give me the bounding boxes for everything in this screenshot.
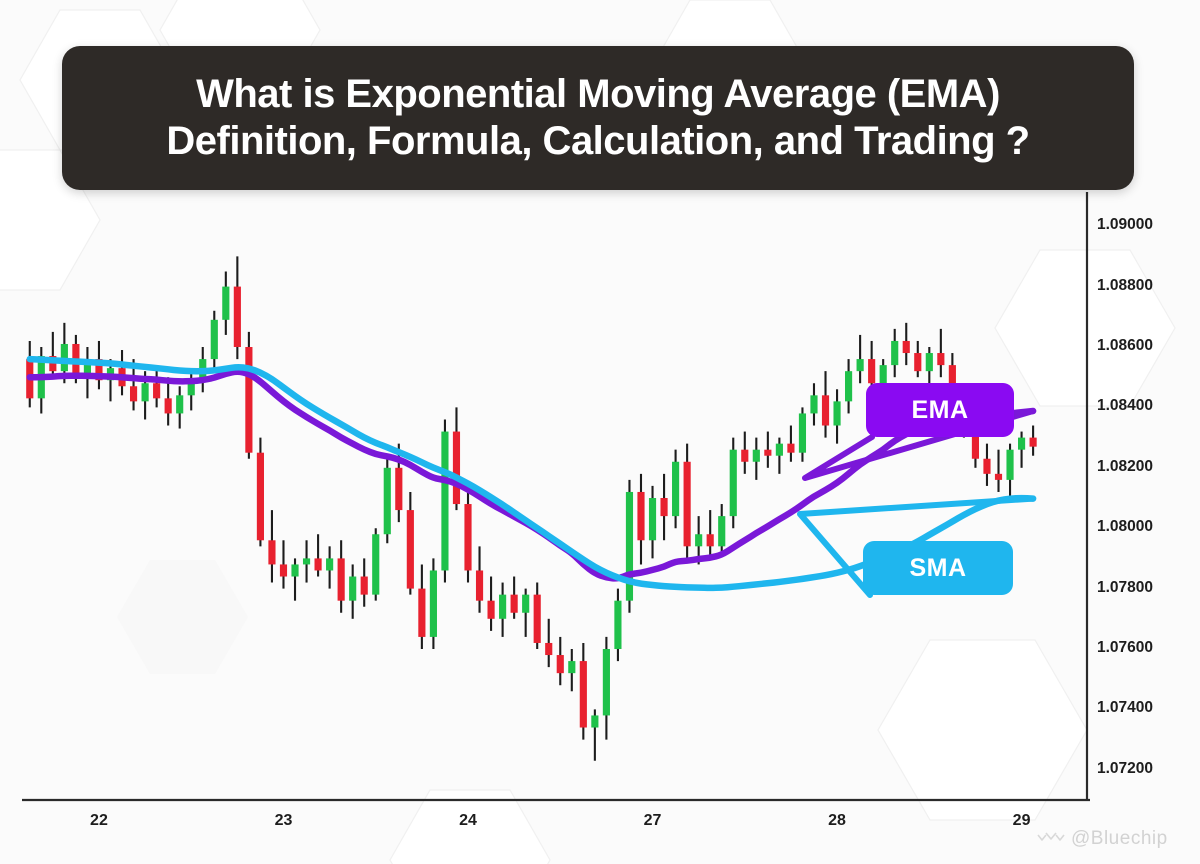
candle-body-bullish: [880, 365, 887, 383]
candle-body-bullish: [384, 468, 391, 534]
y-axis-tick-label: 1.09000: [1097, 216, 1153, 234]
legend-badge-sma[interactable]: SMA: [863, 541, 1013, 595]
candle-body-bullish: [349, 577, 356, 601]
x-axis-tick-label: 29: [1013, 812, 1031, 830]
candle-body-bullish: [810, 395, 817, 413]
candle-body-bullish: [695, 534, 702, 546]
candle-body-bearish: [903, 341, 910, 353]
candle-body-bullish: [522, 595, 529, 613]
candle-body-bullish: [1006, 450, 1013, 480]
candle-body-bearish: [637, 492, 644, 540]
candle-body-bullish: [303, 558, 310, 564]
x-axis-tick-label: 28: [828, 812, 846, 830]
candle-body-bearish: [868, 359, 875, 383]
y-axis-tick-label: 1.08200: [1097, 458, 1153, 476]
candle-body-bearish: [534, 595, 541, 643]
legend-label-sma: SMA: [909, 554, 966, 583]
candle-body-bullish: [211, 320, 218, 359]
candle-body-bullish: [430, 570, 437, 636]
candle-body-bullish: [730, 450, 737, 516]
candle-body-bullish: [857, 359, 864, 371]
candle-body-bearish: [684, 462, 691, 547]
candle-body-bearish: [787, 444, 794, 453]
candle-body-bullish: [649, 498, 656, 540]
candle-body-bearish: [822, 395, 829, 425]
candle-body-bearish: [315, 558, 322, 570]
candle-body-bullish: [176, 395, 183, 413]
candle-body-bullish: [142, 383, 149, 401]
candle-body-bearish: [764, 450, 771, 456]
candle-body-bearish: [338, 558, 345, 600]
candle-body-bearish: [580, 661, 587, 727]
candle-body-bullish: [776, 444, 783, 456]
candle-body-bearish: [741, 450, 748, 462]
candle-body-bullish: [568, 661, 575, 673]
candle-body-bullish: [614, 601, 621, 649]
candle-body-bearish: [153, 383, 160, 398]
chevron-logo-icon: [1036, 829, 1066, 849]
candle-body-bearish: [234, 287, 241, 347]
candle-body-bearish: [464, 504, 471, 570]
candle-body-bullish: [222, 287, 229, 320]
title-banner: What is Exponential Moving Average (EMA)…: [62, 46, 1134, 190]
candle-body-bearish: [1030, 438, 1037, 447]
candle-body-bullish: [833, 401, 840, 425]
legend-label-ema: EMA: [911, 396, 968, 425]
candle-body-bearish: [245, 347, 252, 453]
candle-body-bullish: [291, 564, 298, 576]
candle-body-bearish: [660, 498, 667, 516]
candle-body-bullish: [441, 432, 448, 571]
candle-body-bearish: [983, 459, 990, 474]
x-axis-tick-label: 23: [275, 812, 293, 830]
candle-body-bearish: [707, 534, 714, 546]
candle-body-bullish: [718, 516, 725, 546]
candle-body-bearish: [257, 453, 264, 541]
candle-body-bearish: [130, 386, 137, 401]
y-axis-tick-label: 1.08000: [1097, 518, 1153, 536]
candle-body-bullish: [372, 534, 379, 594]
candle-body-bullish: [591, 715, 598, 727]
y-axis-tick-label: 1.07600: [1097, 639, 1153, 657]
title-line-1: What is Exponential Moving Average (EMA): [196, 71, 1000, 118]
candle-body-bearish: [557, 655, 564, 673]
y-axis-tick-label: 1.07800: [1097, 579, 1153, 597]
candle-body-bearish: [407, 510, 414, 589]
candle-body-bearish: [545, 643, 552, 655]
candle-body-bullish: [499, 595, 506, 619]
candle-body-bullish: [753, 450, 760, 462]
candle-body-bearish: [395, 468, 402, 510]
candle-body-bearish: [476, 570, 483, 600]
candle-body-bearish: [995, 474, 1002, 480]
candle-body-bullish: [672, 462, 679, 516]
candle-body-bearish: [165, 398, 172, 413]
candle-body-bearish: [361, 577, 368, 595]
y-axis-tick-label: 1.07200: [1097, 760, 1153, 778]
x-axis-tick-label: 22: [90, 812, 108, 830]
candle-body-bullish: [1018, 438, 1025, 450]
candle-body-bearish: [453, 432, 460, 504]
candle-body-bullish: [926, 353, 933, 371]
candle-body-bullish: [845, 371, 852, 401]
candle-body-bullish: [799, 413, 806, 452]
candle-body-bearish: [914, 353, 921, 371]
y-axis-tick-label: 1.08400: [1097, 397, 1153, 415]
candle-body-bearish: [268, 540, 275, 564]
y-axis-tick-label: 1.08800: [1097, 277, 1153, 295]
y-axis-tick-label: 1.08600: [1097, 337, 1153, 355]
candle-body-bearish: [418, 589, 425, 637]
y-axis-tick-label: 1.07400: [1097, 699, 1153, 717]
candle-body-bearish: [937, 353, 944, 365]
x-axis-tick-label: 24: [459, 812, 477, 830]
candle-body-bearish: [511, 595, 518, 613]
candle-body-bearish: [280, 564, 287, 576]
watermark: @Bluechip: [1036, 828, 1168, 850]
infographic-root: 1.090001.088001.086001.084001.082001.080…: [0, 0, 1200, 864]
candle-body-bearish: [487, 601, 494, 619]
candle-body-bullish: [603, 649, 610, 715]
axis-layer: [22, 192, 1090, 800]
legend-badge-ema[interactable]: EMA: [866, 383, 1014, 437]
candle-body-bullish: [326, 558, 333, 570]
title-line-2: Definition, Formula, Calculation, and Tr…: [166, 118, 1029, 165]
watermark-handle: @Bluechip: [1071, 828, 1168, 850]
x-axis-tick-label: 27: [644, 812, 662, 830]
candle-body-bullish: [891, 341, 898, 365]
